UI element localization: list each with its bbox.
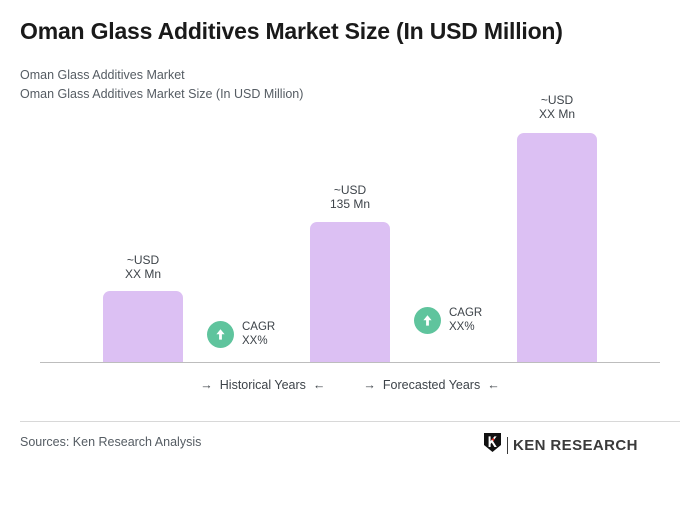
brand-name: KEN RESEARCH [513, 437, 638, 454]
cagr-label-line2: XX% [449, 321, 475, 333]
legend-item-forecasted-years: → Forecasted Years ← [363, 378, 499, 392]
cagr-badge-label: CAGRXX% [449, 306, 482, 334]
legend-item-label: Forecasted Years [383, 378, 480, 392]
chart-bar [103, 291, 183, 362]
arrow-right-icon: → [363, 379, 376, 392]
sources-text: Sources: Ken Research Analysis [20, 435, 201, 449]
chart-card: Oman Glass Additives Market Size (In USD… [0, 0, 700, 520]
cagr-label-line1: CAGR [449, 307, 482, 319]
cagr-badge-label: CAGRXX% [242, 320, 275, 348]
ken-research-logo: KEN RESEARCH [483, 432, 638, 458]
cagr-label-line2: XX% [242, 335, 268, 347]
ken-research-shield-icon [483, 432, 502, 458]
bar-value-label: ~USD XX Mn [502, 93, 612, 121]
bar-value-label: ~USD 135 Mn [295, 183, 405, 211]
chart-baseline-axis [40, 362, 660, 363]
chart-bar [517, 133, 597, 362]
cagr-badge: CAGRXX% [414, 306, 482, 334]
arrow-up-icon [414, 307, 441, 334]
bar-value-label: ~USD XX Mn [88, 253, 198, 281]
footer-divider [20, 421, 680, 422]
arrow-left-icon: ← [313, 379, 326, 392]
arrow-right-icon: → [200, 379, 213, 392]
cagr-label-line1: CAGR [242, 321, 275, 333]
arrow-up-icon [207, 321, 234, 348]
arrow-left-icon: ← [487, 379, 500, 392]
legend-item-historical-years: → Historical Years ← [200, 378, 325, 392]
bar-chart-plot-area: ~USD XX Mn ~USD 135 Mn ~USD XX Mn CAGRXX… [0, 0, 700, 400]
period-legend: → Historical Years ← → Forecasted Years … [0, 378, 700, 392]
logo-separator [507, 437, 508, 454]
chart-bar [310, 222, 390, 362]
legend-item-label: Historical Years [220, 378, 306, 392]
cagr-badge: CAGRXX% [207, 320, 275, 348]
